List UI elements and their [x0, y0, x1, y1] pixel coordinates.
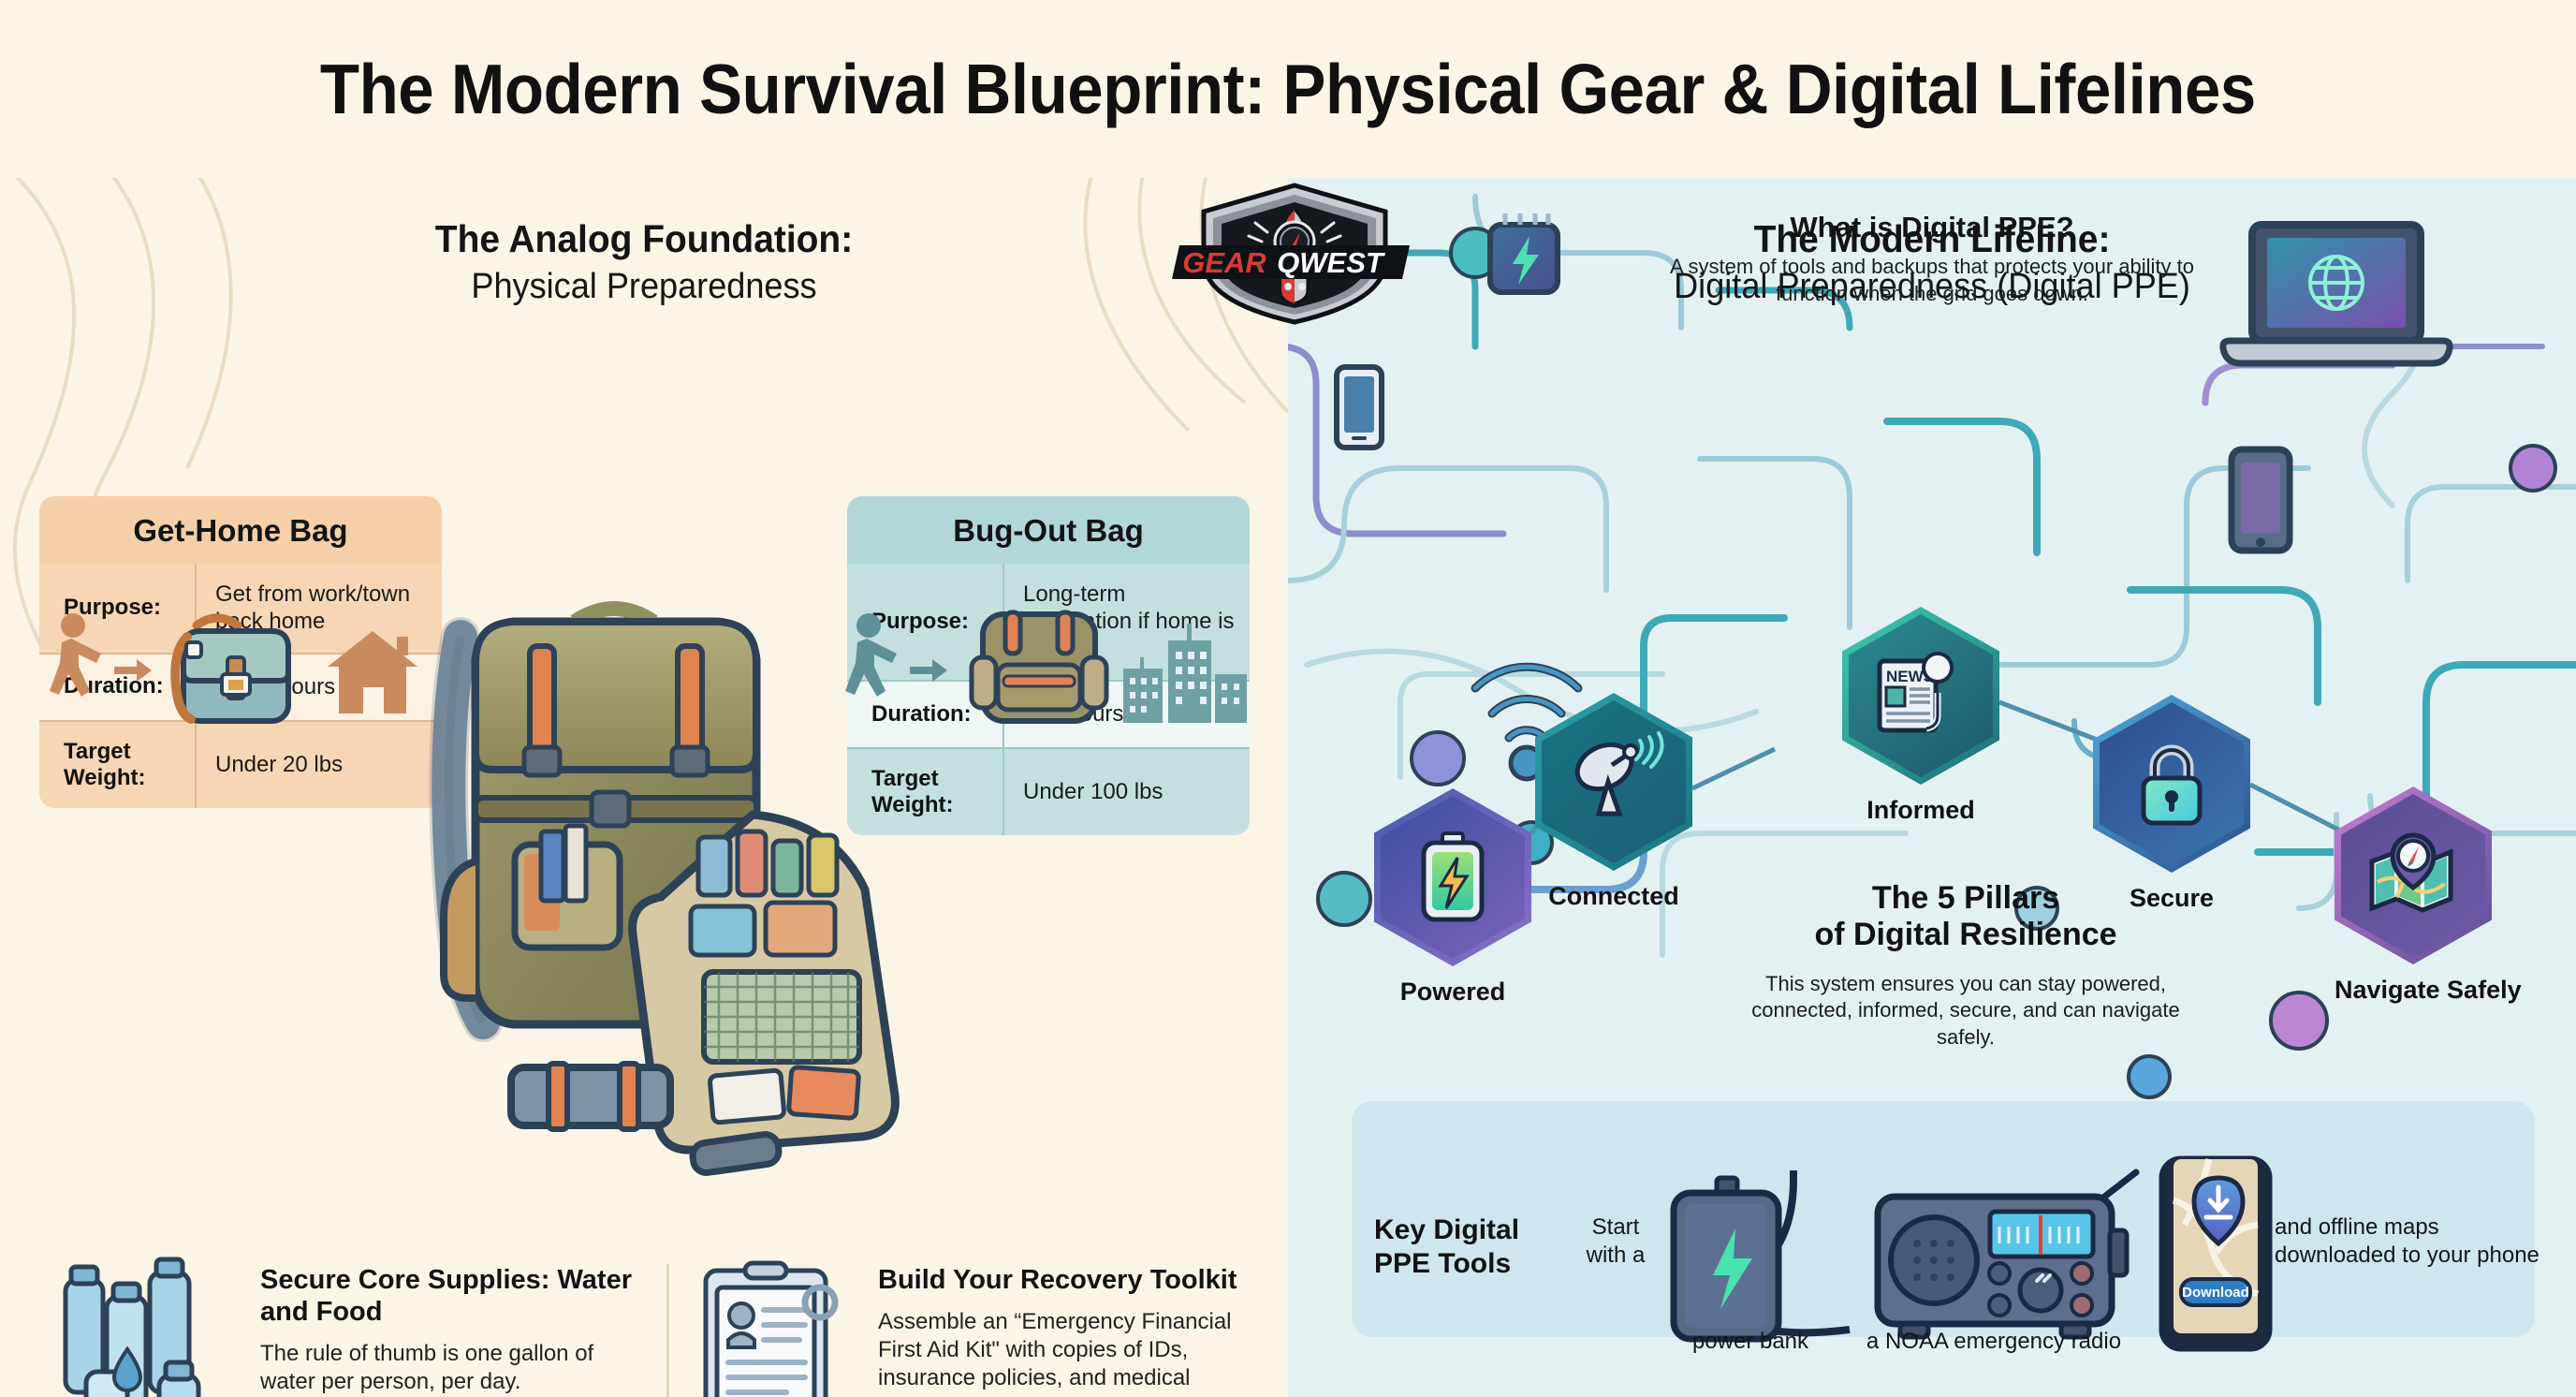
water-bottles-illustration	[56, 1259, 243, 1397]
walking-person-icon	[50, 613, 101, 697]
pillar-connected[interactable]: Connected	[1535, 693, 1692, 910]
satchel-backpack-icon	[175, 618, 288, 721]
tip-water-and-food: Secure Core Supplies: Water and Food The…	[56, 1259, 637, 1397]
pillar-powered[interactable]: Powered	[1374, 788, 1531, 1006]
left-panel: The Analog Foundation: Physical Prepared…	[0, 178, 1288, 1397]
pillar-label: Informed	[1842, 796, 1999, 824]
arrow-right-icon	[114, 659, 152, 682]
hex-shape	[2093, 695, 2250, 873]
arrow-right-icon	[910, 659, 947, 682]
tip-recovery-toolkit: Build Your Recovery Toolkit Assemble an …	[693, 1259, 1254, 1397]
phone-icon	[1337, 367, 1382, 448]
left-header-line1: The Analog Foundation:	[32, 217, 1255, 261]
key-tools-label: Key Digital PPE Tools	[1374, 1213, 1561, 1281]
pillar-label: Powered	[1374, 978, 1531, 1006]
title-bar: The Modern Survival Blueprint: Physical …	[0, 0, 2576, 178]
power-bank-icon	[1662, 1178, 1793, 1346]
news-icon: NEWS	[1876, 655, 1966, 736]
left-header-line2: Physical Preparedness	[32, 267, 1255, 307]
download-button-text: Download	[2182, 1285, 2249, 1301]
hex-shape	[1374, 788, 1531, 966]
bedroll-icon	[511, 1064, 670, 1129]
main-backpack-illustration	[374, 581, 899, 1198]
row-key: Target Weight:	[39, 722, 197, 809]
bug-out-bag-illustration	[842, 609, 1254, 730]
pillar-informed[interactable]: NEWS Informed	[1842, 607, 1999, 824]
pillars-heading-line2: of Digital Resilience	[1814, 917, 2116, 952]
caption-offline-maps: and offline maps downloaded to your phon…	[2275, 1213, 2546, 1270]
definition-heading: What is Digital PPE?	[1288, 211, 2576, 244]
noaa-radio-icon	[1863, 1172, 2144, 1348]
table-row: Target Weight: Under 100 lbs	[847, 747, 1250, 836]
caption-noaa-radio: a NOAA emergency radio	[1835, 1328, 2153, 1356]
infographic-canvas: The Analog Foundation: Physical Prepared…	[0, 0, 2576, 1397]
pillars-body: This system ensures you can stay powered…	[1722, 971, 2209, 1051]
row-value: Under 100 lbs	[1004, 749, 1250, 836]
pillar-label: Navigate Safely	[2334, 976, 2522, 1004]
logo-word-gear: GEAR	[1182, 246, 1266, 279]
offline-maps-phone-icon: Download	[2157, 1159, 2275, 1350]
tablet-icon	[2232, 449, 2290, 551]
logo-word-qwest: QWEST	[1277, 246, 1386, 279]
pillar-label: Connected	[1535, 882, 1692, 910]
tip-heading: Secure Core Supplies: Water and Food	[260, 1265, 637, 1329]
tip-body: The rule of thumb is one gallon of water…	[260, 1340, 637, 1396]
left-panel-header: The Analog Foundation: Physical Prepared…	[0, 217, 1288, 307]
battery-icon	[1416, 831, 1489, 923]
digital-ppe-definition: What is Digital PPE? A system of tools a…	[1288, 211, 2576, 307]
satellite-dish-icon	[1571, 741, 1657, 823]
hiking-backpack-icon	[972, 612, 1106, 721]
pillar-label: Secure	[2093, 884, 2250, 912]
lock-icon	[2134, 739, 2209, 829]
caption-power-bank: power bank	[1647, 1328, 1853, 1356]
pillar-secure[interactable]: Secure	[2093, 695, 2250, 912]
tip-body: Assemble an “Emergency Financial First A…	[878, 1308, 1254, 1397]
map-pin-icon	[2364, 833, 2462, 918]
document-pouch-illustration	[693, 1259, 861, 1397]
caption-start-with: Start with a	[1576, 1213, 1655, 1270]
hex-shape: NEWS	[1842, 607, 1999, 785]
bug-out-bag-title: Bug-Out Bag	[847, 496, 1250, 564]
definition-body: A system of tools and backups that prote…	[1632, 254, 2232, 307]
tips-divider	[666, 1264, 669, 1397]
hex-shape	[2334, 787, 2492, 964]
get-home-bag-title: Get-Home Bag	[39, 496, 442, 564]
pillars-heading-line1: The 5 Pillars	[1872, 880, 2059, 916]
page-title: The Modern Survival Blueprint: Physical …	[320, 49, 2256, 129]
gearqwest-logo: GEAR QWEST	[1178, 184, 1412, 324]
tip-heading: Build Your Recovery Toolkit	[878, 1265, 1254, 1297]
pillar-navigate-safely[interactable]: Navigate Safely	[2334, 787, 2522, 1004]
hex-shape	[1535, 693, 1692, 871]
